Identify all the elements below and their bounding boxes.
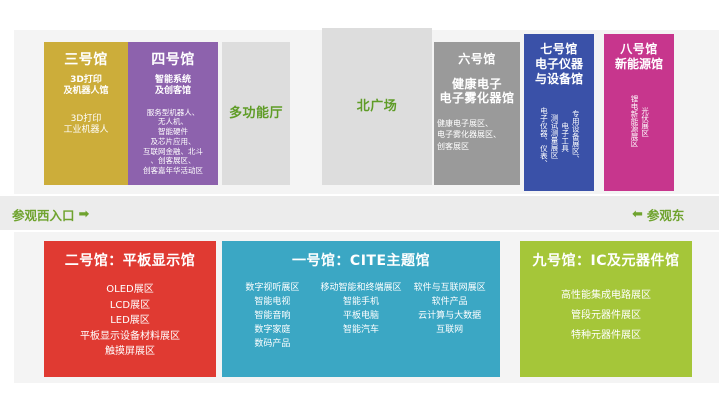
hall-1-zone-items: 智能电视智能音响数字家庭数码产品 xyxy=(254,297,290,349)
hall-block-8[interactable]: 八号馆 新能源馆 光伏展区 锂电新能源展区 xyxy=(604,34,674,191)
hall-2-zones: OLED展区LCD展区LED展区平板显示设备材料展区触摸屏展区 xyxy=(44,282,216,360)
hall-8-zone-col: 光伏展区 xyxy=(640,78,649,166)
hall-8-title: 八号馆 xyxy=(604,42,674,57)
hall-7-zones: 专用设备展区、 电子工具 测试测量展区 电子仪器、仪表、 xyxy=(524,93,594,181)
multifunction-hall-label: 多功能厅 xyxy=(229,106,283,122)
hall-7-zone-col: 电子仪器、仪表、 xyxy=(539,93,548,181)
hall-4-subtitle: 智能系统及创客馆 xyxy=(128,75,218,98)
north-plaza-block[interactable]: 北广场 xyxy=(322,28,432,185)
hall-6-zones: 健康电子展区、电子雾化器展区、创客展区 xyxy=(434,118,520,153)
hall-4-zones: 服务型机器人、无人机、智能硬件及芯片应用、互联网金融、北斗、创客展区、创客嘉年华… xyxy=(128,108,218,176)
hall-1-zone-column: 软件与互联网展区 软件产品云计算与大数据互联网 xyxy=(405,282,494,352)
hall-1-title: 一号馆：CITE主题馆 xyxy=(222,253,500,270)
multifunction-hall-block[interactable]: 多功能厅 xyxy=(222,42,290,185)
hall-7-subtitle: 电子仪器与设备馆 xyxy=(524,57,594,87)
hall-8-zones: 光伏展区 锂电新能源展区 xyxy=(604,78,674,166)
hall-1-zone-items: 智能手机平板电脑智能汽车 xyxy=(343,297,379,335)
hall-block-7[interactable]: 七号馆 电子仪器与设备馆 专用设备展区、 电子工具 测试测量展区 电子仪器、仪表… xyxy=(524,34,594,191)
east-entrance[interactable]: ⬅ 参观东 xyxy=(632,205,684,224)
hall-2-title: 二号馆：平板显示馆 xyxy=(44,253,216,270)
arrow-left-icon: ⬅ xyxy=(632,208,643,221)
hall-1-zone-columns: 数字视听展区 智能电视智能音响数字家庭数码产品 移动智能和终端展区 智能手机平板… xyxy=(222,282,500,352)
hall-block-4[interactable]: 四号馆 智能系统及创客馆 服务型机器人、无人机、智能硬件及芯片应用、互联网金融、… xyxy=(128,42,218,185)
west-entrance[interactable]: 参观西入口 ➡ xyxy=(12,205,89,224)
hall-9-zones: 高性能集成电路展区管段元器件展区特种元器件展区 xyxy=(520,286,692,346)
hall-7-zone-col: 测试测量展区 xyxy=(549,93,558,181)
hall-1-zone-column: 数字视听展区 智能电视智能音响数字家庭数码产品 xyxy=(228,282,317,352)
west-entrance-label: 参观西入口 xyxy=(12,205,75,224)
hall-6-subtitle: 健康电子电子雾化器馆 xyxy=(434,77,520,106)
hall-3-zones: 3D打印工业机器人 xyxy=(44,114,128,137)
hall-block-3[interactable]: 三号馆 3D打印及机器人馆 3D打印工业机器人 xyxy=(44,42,128,185)
hall-4-title: 四号馆 xyxy=(128,52,218,69)
hall-block-9[interactable]: 九号馆：IC及元器件馆 高性能集成电路展区管段元器件展区特种元器件展区 xyxy=(520,241,692,377)
hall-7-zone-col: 专用设备展区、 xyxy=(571,93,580,181)
exhibition-floor-map: 三号馆 3D打印及机器人馆 3D打印工业机器人 四号馆 智能系统及创客馆 服务型… xyxy=(0,0,719,409)
entrance-strip-panel xyxy=(0,196,719,230)
hall-8-zone-col: 锂电新能源展区 xyxy=(629,78,638,166)
hall-1-zone-head: 数字视听展区 xyxy=(228,282,317,296)
east-entrance-label: 参观东 xyxy=(647,205,685,224)
hall-1-zone-column: 移动智能和终端展区 智能手机平板电脑智能汽车 xyxy=(317,282,406,352)
hall-9-title: 九号馆：IC及元器件馆 xyxy=(520,253,692,270)
north-plaza-label: 北广场 xyxy=(357,99,398,115)
hall-block-6[interactable]: 六号馆 健康电子电子雾化器馆 健康电子展区、电子雾化器展区、创客展区 xyxy=(434,42,520,185)
hall-1-zone-items: 软件产品云计算与大数据互联网 xyxy=(418,297,481,335)
hall-3-subtitle: 3D打印及机器人馆 xyxy=(44,75,128,98)
hall-1-zone-head: 软件与互联网展区 xyxy=(405,282,494,296)
hall-block-1[interactable]: 一号馆：CITE主题馆 数字视听展区 智能电视智能音响数字家庭数码产品 移动智能… xyxy=(222,241,500,377)
hall-6-title: 六号馆 xyxy=(434,52,520,67)
hall-1-zone-head: 移动智能和终端展区 xyxy=(317,282,406,296)
hall-3-title: 三号馆 xyxy=(44,52,128,69)
hall-8-subtitle: 新能源馆 xyxy=(604,57,674,72)
hall-7-title: 七号馆 xyxy=(524,42,594,57)
hall-7-zone-col: 电子工具 xyxy=(560,93,569,181)
arrow-right-icon: ➡ xyxy=(79,208,90,221)
hall-block-2[interactable]: 二号馆：平板显示馆 OLED展区LCD展区LED展区平板显示设备材料展区触摸屏展… xyxy=(44,241,216,377)
